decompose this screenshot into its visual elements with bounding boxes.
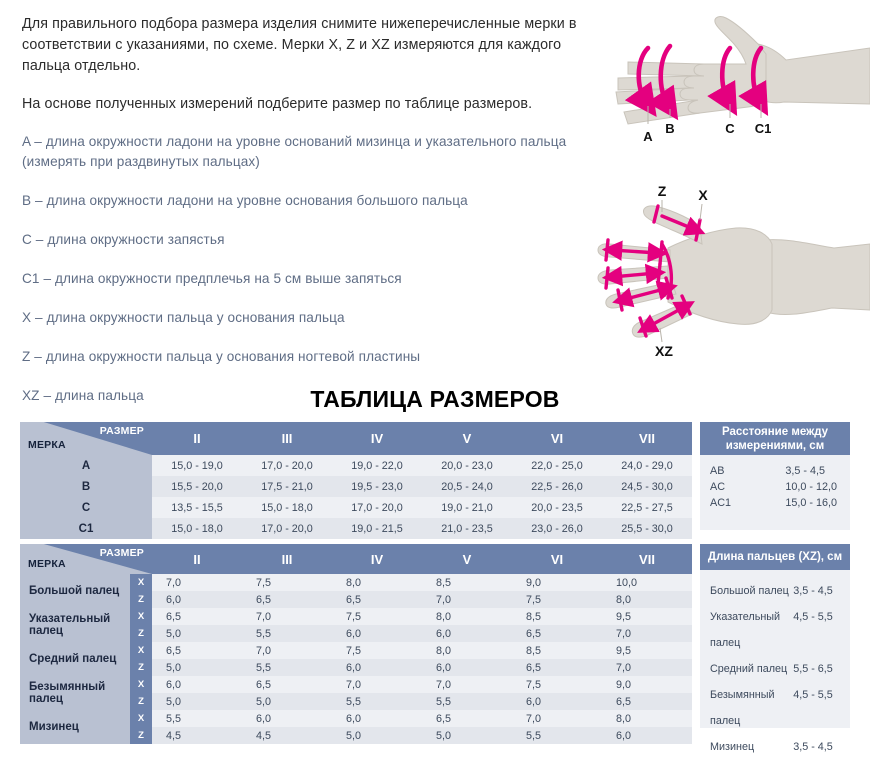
hand-diagram-circumference: A B C C1 [608, 2, 870, 152]
table2-cell: 4,5 [152, 727, 242, 744]
table1-cell: 15,0 - 18,0 [152, 518, 242, 539]
table2-cell: 6,0 [152, 676, 242, 693]
table1-cell: 15,0 - 18,0 [242, 497, 332, 518]
table-row: B15,5 - 20,017,5 - 21,019,5 - 23,020,5 -… [20, 476, 692, 497]
table-row: Указательный палецX6,57,07,58,08,59,5 [20, 608, 692, 625]
panel2-value: 3,5 - 4,5 [793, 578, 840, 604]
table1-cell: 15,0 - 19,0 [152, 455, 242, 476]
hand-silhouette [616, 17, 870, 124]
table2-cell: 6,0 [332, 659, 422, 676]
table1-cell: 25,5 - 30,0 [602, 518, 692, 539]
intro-text-block: Для правильного подбора размера изделия … [22, 14, 612, 425]
table2-cell: 7,5 [512, 591, 602, 608]
size-table-1: РАЗМЕРМЕРКАIIIIIIVVVIVIIA15,0 - 19,017,0… [20, 422, 692, 539]
table2-col-header-iv: IV [332, 544, 422, 574]
diagram-label-x: X [698, 187, 708, 203]
table2-cell: 5,5 [242, 659, 332, 676]
table2-cell: 7,5 [332, 608, 422, 625]
table2-cell: 5,0 [242, 693, 332, 710]
table2-cell: 8,5 [422, 574, 512, 591]
table2-submeasure-x: X [130, 710, 152, 727]
table1-cell: 22,5 - 27,5 [602, 497, 692, 518]
table2-cell: 6,0 [422, 659, 512, 676]
legend-item-a: A – длина окружности ладони на уровне ос… [22, 132, 612, 172]
diagram-label-c: C [725, 121, 735, 136]
table2-cell: 5,5 [512, 727, 602, 744]
table2-cell: 9,5 [602, 642, 692, 659]
table2-cell: 8,0 [332, 574, 422, 591]
table2-submeasure-x: X [130, 608, 152, 625]
table1-cell: 20,5 - 24,0 [422, 476, 512, 497]
table2-cell: 5,0 [332, 727, 422, 744]
table1-row-label: A [20, 455, 152, 476]
table2-cell: 5,5 [242, 625, 332, 642]
panel1-value: 3,5 - 4,5 [785, 463, 840, 479]
diagram-label-xz: XZ [655, 343, 673, 359]
table1-col-header-vi: VI [512, 422, 602, 455]
list-item: AC10,0 - 12,0 [710, 479, 840, 495]
table1-cell: 20,0 - 23,0 [422, 455, 512, 476]
panel2-value: 3,5 - 4,5 [793, 734, 840, 760]
table2-cell: 6,5 [332, 591, 422, 608]
table2-cell: 7,0 [242, 608, 332, 625]
table1-cell: 22,0 - 25,0 [512, 455, 602, 476]
table1-cell: 17,0 - 20,0 [242, 455, 332, 476]
table2-corner-cell: РАЗМЕРМЕРКА [20, 544, 152, 574]
size-table-2: РАЗМЕРМЕРКАIIIIIIVVVIVIIБольшой палецX7,… [20, 544, 692, 744]
legend-item-z: Z – длина окружности пальца у основания … [22, 347, 612, 367]
table2-cell: 7,0 [242, 642, 332, 659]
table2-cell: 6,0 [512, 693, 602, 710]
table2-cell: 6,5 [152, 608, 242, 625]
legend-item-c: C – длина окружности запястья [22, 230, 612, 250]
table1-cell: 17,5 - 21,0 [242, 476, 332, 497]
panel2-title: Длина пальцев (XZ), см [700, 544, 850, 570]
table2-col-header-ii: II [152, 544, 242, 574]
table2-cell: 7,5 [242, 574, 332, 591]
table1-col-axis-label: РАЗМЕР [100, 425, 144, 437]
table2-cell: 7,0 [602, 625, 692, 642]
table2-cell: 6,0 [332, 625, 422, 642]
table1-col-header-v: V [422, 422, 512, 455]
table1-cell: 17,0 - 20,0 [332, 497, 422, 518]
table-row: Безымянный палецX6,06,57,07,07,59,0 [20, 676, 692, 693]
table2-cell: 5,5 [152, 710, 242, 727]
panel2-value: 4,5 - 5,5 [793, 604, 840, 656]
table1-row-label: C1 [20, 518, 152, 539]
table2-cell: 7,0 [152, 574, 242, 591]
diagram-label-c1: C1 [755, 121, 772, 136]
table1-cell: 20,0 - 23,5 [512, 497, 602, 518]
table2-cell: 7,0 [332, 676, 422, 693]
list-item: AC115,0 - 16,0 [710, 495, 840, 511]
list-item: Указательный палец4,5 - 5,5 [710, 604, 840, 656]
table2-col-axis-label: РАЗМЕР [100, 547, 144, 559]
table2-finger-label: Безымянный палец [20, 676, 130, 710]
table2-cell: 6,0 [242, 710, 332, 727]
diagram-label-a: A [643, 129, 653, 144]
table2-submeasure-z: Z [130, 693, 152, 710]
intro-paragraph-2: На основе полученных измерений подберите… [22, 94, 612, 115]
table2-submeasure-x: X [130, 574, 152, 591]
table1-cell: 22,5 - 26,0 [512, 476, 602, 497]
table-row: C115,0 - 18,017,0 - 20,019,0 - 21,521,0 … [20, 518, 692, 539]
table2-finger-label: Мизинец [20, 710, 130, 744]
table2-cell: 8,0 [602, 591, 692, 608]
panel2-rows: Большой палец3,5 - 4,5Указательный палец… [700, 570, 850, 760]
table2-cell: 9,0 [512, 574, 602, 591]
finger-length-panel: Длина пальцев (XZ), см Большой палец3,5 … [700, 544, 850, 728]
distance-between-measurements-panel: Расстояние между измерениями, см AB3,5 -… [700, 422, 850, 530]
table2-cell: 5,5 [422, 693, 512, 710]
panel2-value: 5,5 - 6,5 [793, 656, 840, 682]
table1-row-axis-label: МЕРКА [28, 439, 66, 451]
table-row: МизинецX5,56,06,06,57,08,0 [20, 710, 692, 727]
panel1-key: AC [710, 479, 785, 495]
table2-cell: 6,0 [152, 591, 242, 608]
list-item: Мизинец3,5 - 4,5 [710, 734, 840, 760]
panel1-value: 15,0 - 16,0 [785, 495, 840, 511]
legend-item-c1: C1 – длина окружности предплечья на 5 см… [22, 269, 612, 289]
table2-cell: 6,5 [512, 625, 602, 642]
table1-cell: 23,0 - 26,0 [512, 518, 602, 539]
table2-cell: 5,5 [332, 693, 422, 710]
table2-cell: 6,0 [422, 625, 512, 642]
table2-cell: 4,5 [242, 727, 332, 744]
table2-submeasure-x: X [130, 676, 152, 693]
table2-cell: 6,0 [602, 727, 692, 744]
table2-col-header-vi: VI [512, 544, 602, 574]
list-item: AB3,5 - 4,5 [710, 463, 840, 479]
legend-item-x: X – длина окружности пальца у основания … [22, 308, 612, 328]
table1-col-header-vii: VII [602, 422, 692, 455]
table1-cell: 21,0 - 23,5 [422, 518, 512, 539]
table2-cell: 6,5 [242, 676, 332, 693]
table2-row-axis-label: МЕРКА [28, 558, 66, 570]
table2-col-header-vii: VII [602, 544, 692, 574]
table1-col-header-iv: IV [332, 422, 422, 455]
table1-cell: 19,0 - 22,0 [332, 455, 422, 476]
table2-cell: 5,0 [422, 727, 512, 744]
table2-finger-label: Указательный палец [20, 608, 130, 642]
table2-cell: 7,0 [602, 659, 692, 676]
table2-cell: 5,0 [152, 659, 242, 676]
table1-col-header-ii: II [152, 422, 242, 455]
table2-cell: 6,0 [332, 710, 422, 727]
table1-cell: 15,5 - 20,0 [152, 476, 242, 497]
table2-cell: 10,0 [602, 574, 692, 591]
table2-cell: 8,5 [512, 608, 602, 625]
panel2-value: 4,5 - 5,5 [793, 682, 840, 734]
table1-row-label: B [20, 476, 152, 497]
legend-item-b: B – длина окружности ладони на уровне ос… [22, 191, 612, 211]
table2-cell: 6,5 [422, 710, 512, 727]
table2-submeasure-z: Z [130, 659, 152, 676]
table-row: C13,5 - 15,515,0 - 18,017,0 - 20,019,0 -… [20, 497, 692, 518]
table1-cell: 17,0 - 20,0 [242, 518, 332, 539]
table2-submeasure-x: X [130, 642, 152, 659]
table2-finger-label: Средний палец [20, 642, 130, 676]
table2-cell: 6,5 [512, 659, 602, 676]
intro-paragraph-1: Для правильного подбора размера изделия … [22, 14, 612, 77]
table-row: Средний палецX6,57,07,58,08,59,5 [20, 642, 692, 659]
table2-cell: 6,5 [602, 693, 692, 710]
panel1-rows: AB3,5 - 4,5AC10,0 - 12,0AC115,0 - 16,0 [700, 455, 850, 511]
table2-cell: 7,5 [512, 676, 602, 693]
table2-cell: 5,0 [152, 625, 242, 642]
table2-col-header-v: V [422, 544, 512, 574]
table1-cell: 19,0 - 21,5 [332, 518, 422, 539]
table2-cell: 8,5 [512, 642, 602, 659]
table2-cell: 7,0 [512, 710, 602, 727]
table-row: A15,0 - 19,017,0 - 20,019,0 - 22,020,0 -… [20, 455, 692, 476]
panel2-key: Безымянный палец [710, 682, 793, 734]
table2-submeasure-z: Z [130, 625, 152, 642]
page-title: ТАБЛИЦА РАЗМЕРОВ [0, 386, 870, 413]
hand-diagram-fingers: Z X XZ [596, 178, 870, 368]
panel2-key: Указательный палец [710, 604, 793, 656]
table2-cell: 7,5 [332, 642, 422, 659]
table2-finger-label: Большой палец [20, 574, 130, 608]
panel2-key: Большой палец [710, 578, 793, 604]
table2-cell: 7,0 [422, 676, 512, 693]
table1-cell: 24,5 - 30,0 [602, 476, 692, 497]
table1-cell: 19,5 - 23,0 [332, 476, 422, 497]
table2-cell: 6,5 [152, 642, 242, 659]
list-item: Безымянный палец4,5 - 5,5 [710, 682, 840, 734]
panel1-key: AC1 [710, 495, 785, 511]
list-item: Средний палец5,5 - 6,5 [710, 656, 840, 682]
table2-cell: 9,5 [602, 608, 692, 625]
table2-submeasure-z: Z [130, 727, 152, 744]
table2-cell: 9,0 [602, 676, 692, 693]
table2-cell: 8,0 [602, 710, 692, 727]
panel2-key: Средний палец [710, 656, 793, 682]
panel1-key: AB [710, 463, 785, 479]
diagram-label-b: B [665, 121, 674, 136]
table1-cell: 24,0 - 29,0 [602, 455, 692, 476]
table1-row-label: C [20, 497, 152, 518]
table2-cell: 8,0 [422, 642, 512, 659]
table-row: Большой палецX7,07,58,08,59,010,0 [20, 574, 692, 591]
table2-submeasure-z: Z [130, 591, 152, 608]
panel1-title: Расстояние между измерениями, см [700, 422, 850, 455]
table1-cell: 19,0 - 21,0 [422, 497, 512, 518]
table1-col-header-iii: III [242, 422, 332, 455]
table2-col-header-iii: III [242, 544, 332, 574]
table2-cell: 6,5 [242, 591, 332, 608]
table2-cell: 7,0 [422, 591, 512, 608]
table1-cell: 13,5 - 15,5 [152, 497, 242, 518]
diagram-label-z: Z [658, 183, 667, 199]
panel2-key: Мизинец [710, 734, 793, 760]
table2-cell: 8,0 [422, 608, 512, 625]
panel1-value: 10,0 - 12,0 [785, 479, 840, 495]
table2-cell: 5,0 [152, 693, 242, 710]
table1-corner-cell: РАЗМЕРМЕРКА [20, 422, 152, 455]
list-item: Большой палец3,5 - 4,5 [710, 578, 840, 604]
